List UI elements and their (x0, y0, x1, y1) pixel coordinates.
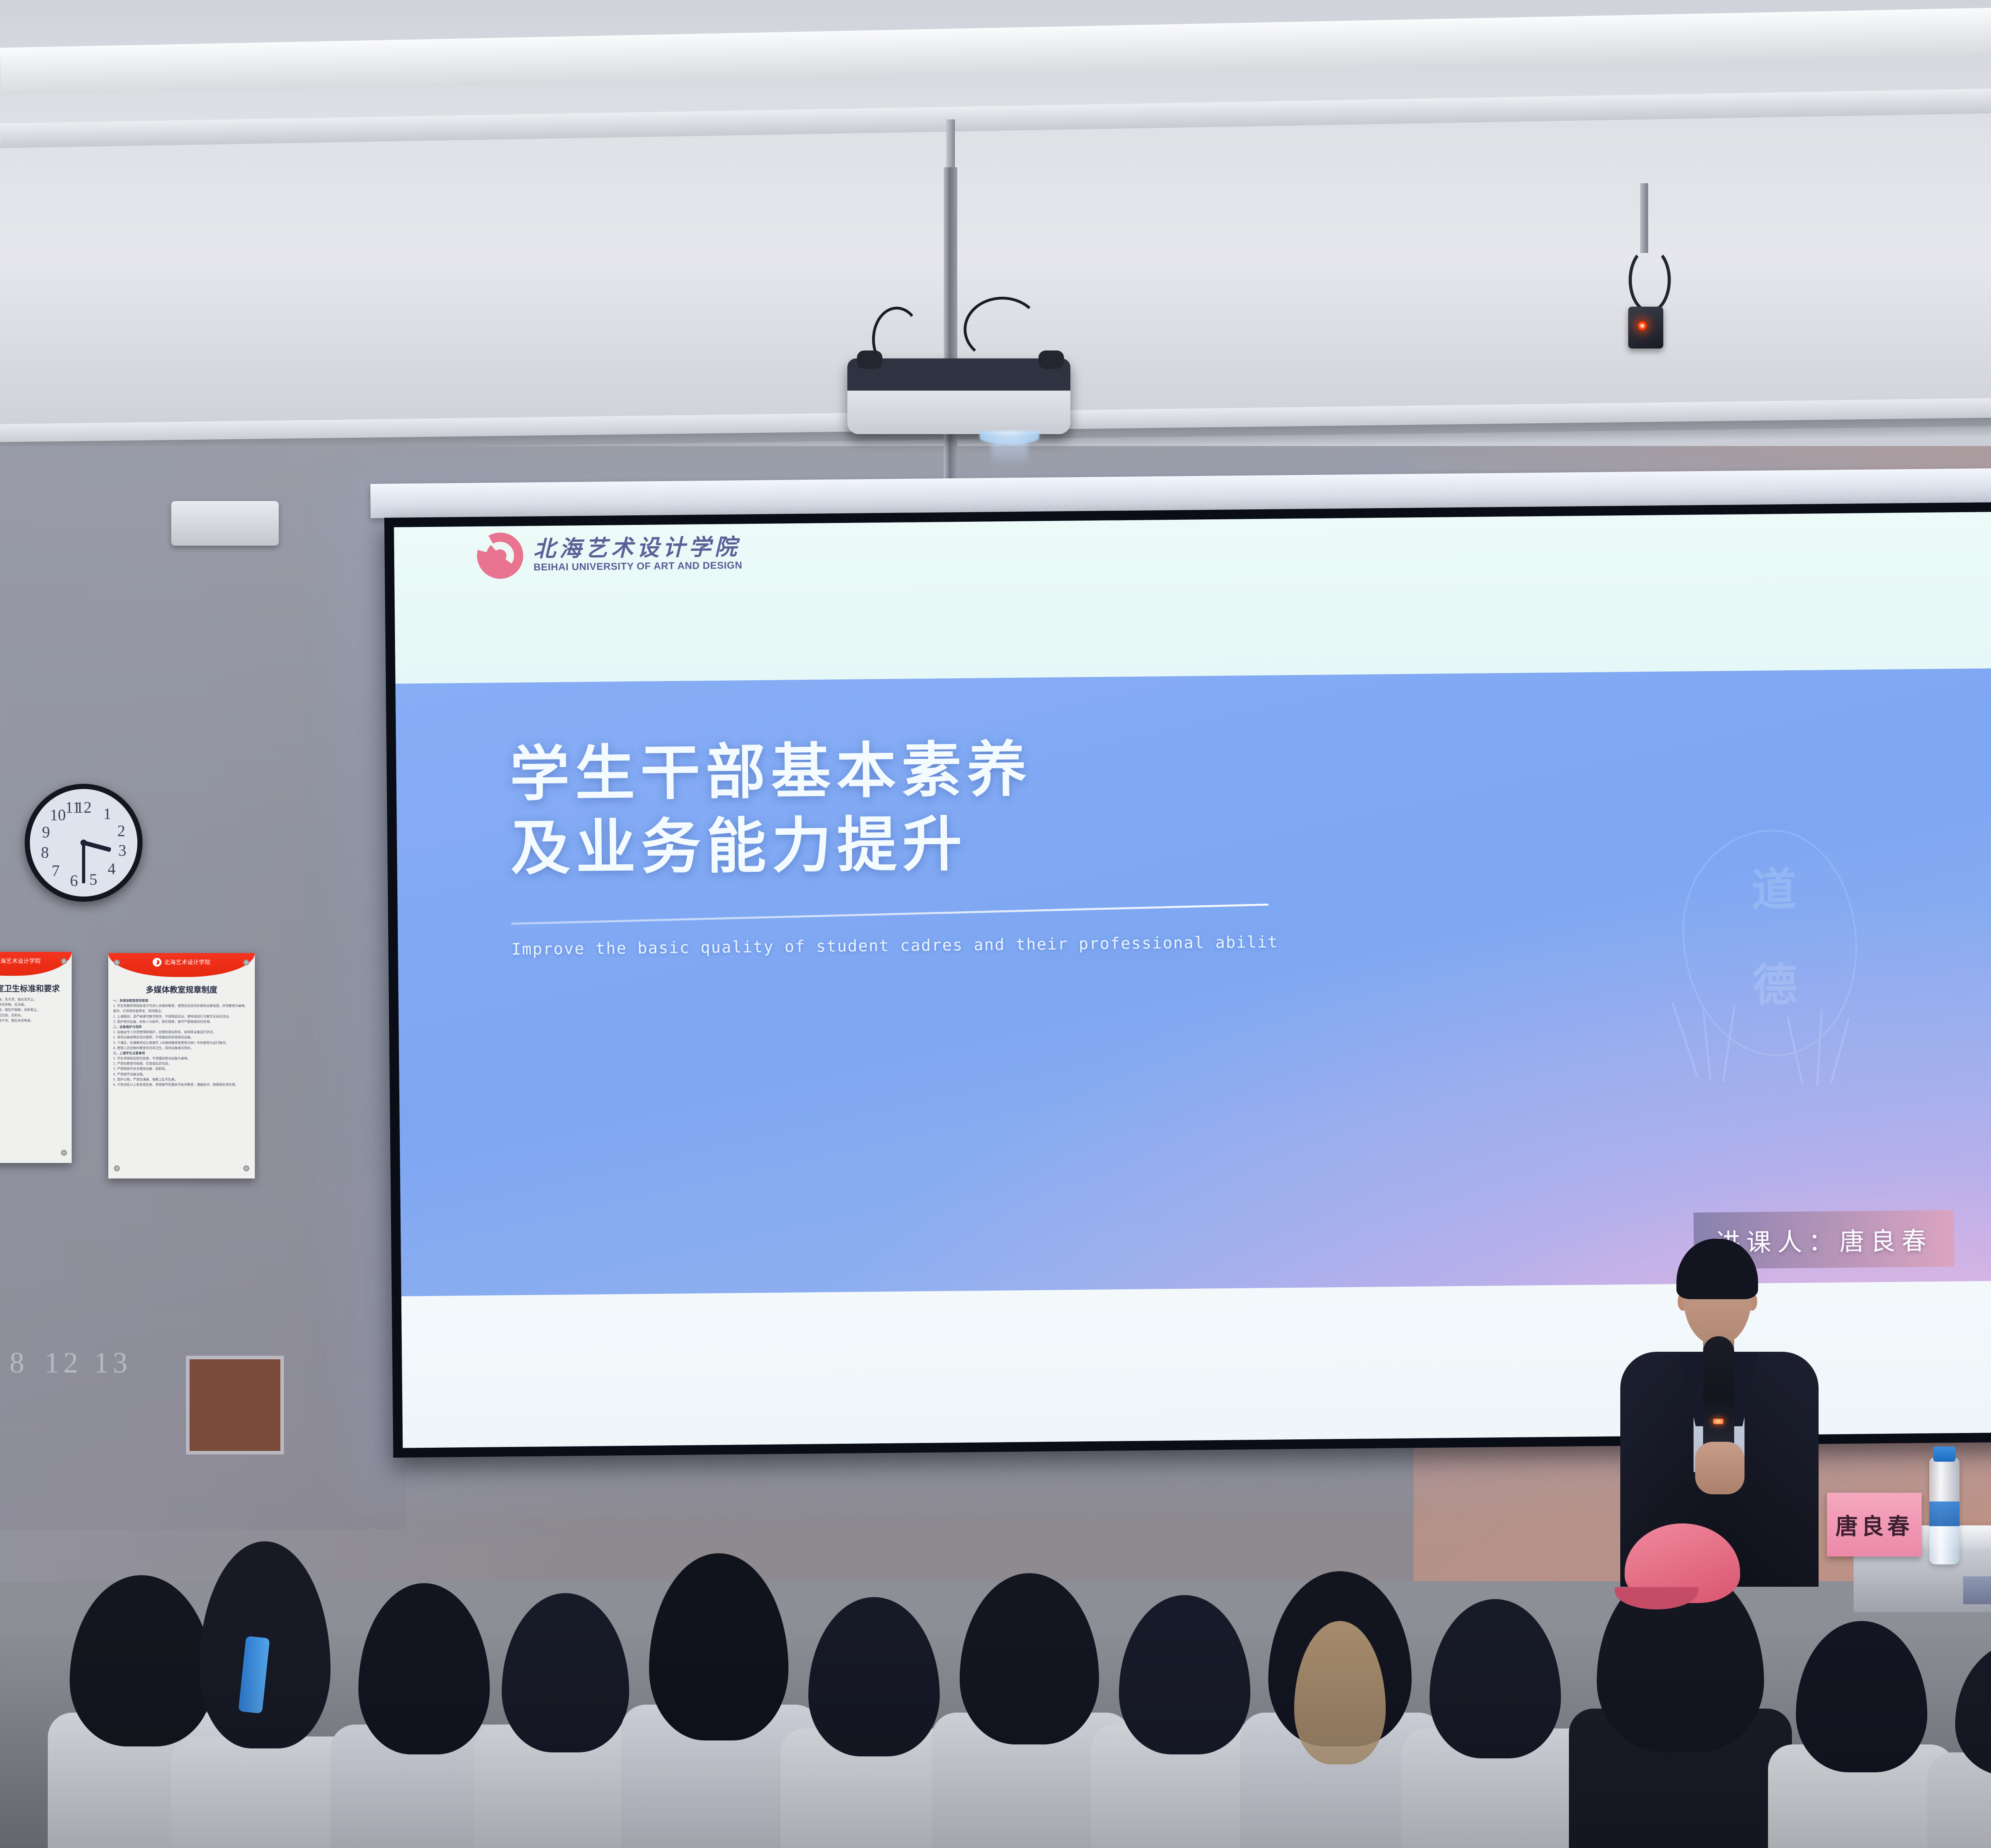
university-logo: 北海艺术设计学院 BEIHAI UNIVERSITY OF ART AND DE… (477, 530, 742, 579)
poster-line: 一、地面清洁：地面干净、明亮、无污渍，窗台无灰尘。 (0, 997, 67, 1002)
slide-title-block: 学生干部基本素养 及业务能力提升 Improve the basic quali… (509, 728, 1549, 959)
list-item (649, 1553, 788, 1740)
poster-line: 二、桌椅摆放：课桌整齐、抽屉无杂物、无涂画。 (0, 1002, 67, 1007)
name-placard-text: 唐良春 (1836, 1509, 1913, 1541)
sensor-pole (1640, 183, 1648, 253)
list-item (358, 1583, 490, 1754)
clock-numeral: 5 (89, 870, 97, 889)
projector-mount-knob (857, 350, 882, 369)
sensor-bracket (1629, 247, 1671, 313)
leaf-icon (1829, 1018, 1849, 1084)
list-item (70, 1575, 213, 1746)
watermark-char: 德 (1752, 949, 1797, 1014)
clock-numeral: 10 (50, 805, 66, 824)
wall-vent (171, 501, 279, 546)
chalk-mark: 13 (94, 1346, 131, 1380)
watermark-char: 道 (1751, 854, 1797, 918)
screw-icon (243, 1165, 249, 1171)
presenter-hand (1695, 1442, 1745, 1494)
poster-line: 五、设备维护：多媒体设备擦拭干净，用后关闭电源。 (0, 1018, 67, 1023)
list-item (1119, 1595, 1250, 1754)
clock-pivot (80, 840, 87, 846)
chalk-mark: 8 (10, 1346, 28, 1380)
poster-line: 1. 设备由专人负责管理和维护，定期检查投影机、音响等设备运行状况。 (113, 1030, 250, 1035)
poster-line: 4. 严禁损坏设备设施。 (113, 1072, 250, 1077)
calligraphy-watermark: 道 德 (1665, 829, 1875, 1110)
poster-section: 二、设备维护与保养 (113, 1024, 250, 1030)
projector-pole (944, 167, 957, 510)
slide-body-band: 道 德 学生干部基本素养 及业务能力提升 Improve the basic q… (395, 668, 1991, 1296)
poster-line: 5. 爱护公物，严禁在课桌、墙壁上乱写乱画。 (113, 1077, 250, 1082)
poster-logo: 北海艺术设计学院 (153, 958, 211, 967)
poster-line: 3. 严禁随意开启多媒体设备、投影机。 (113, 1066, 250, 1071)
wall-poster-hygiene: 北海艺术设计学院 多媒体教室卫生标准和要求 一、地面清洁：地面干净、明亮、无污渍… (0, 952, 72, 1163)
poster-banner-cn: 北海艺术设计学院 (164, 958, 211, 966)
chalk-mark: 12 (45, 1346, 82, 1380)
clock-numeral: 11 (65, 798, 81, 816)
logo-text-block: 北海艺术设计学院 BEIHAI UNIVERSITY OF ART AND DE… (533, 536, 742, 573)
poster-line: 4. 管理人员应做好教室的日常卫生，保持设备清洁完好。 (113, 1045, 250, 1051)
list-item (502, 1593, 629, 1752)
poster-line: 3. 爱护室内设备，如有人为损坏，照价赔偿，情节严重者按校纪处理。 (113, 1019, 250, 1024)
screw-icon (61, 1150, 67, 1156)
clock-numeral: 1 (103, 805, 111, 823)
poster-line: 四、讲台整洁：讲台无杂物、无垃圾、无积水。 (0, 1013, 67, 1018)
slide-title-line-2: 及业务能力提升 (510, 802, 1549, 886)
poster-section: 一、多媒体教室使用管理 (113, 998, 250, 1003)
projector-light-beam (992, 442, 1027, 466)
poster-line: 1. 学生须按指定座位就座，不得擅自移动设备与桌椅。 (113, 1056, 250, 1061)
poster-line: 2. 上课期间，须严格遵守教学秩序，不得随意走动、喧哗或进行与教学无关的活动。 (113, 1014, 250, 1019)
title-divider (511, 904, 1269, 925)
water-bottle-label (1929, 1501, 1960, 1526)
slide-subtitle: Improve the basic quality of student cad… (511, 930, 1549, 959)
front-desk-step (1963, 1576, 1991, 1604)
list-item (960, 1573, 1099, 1744)
poster-line: 3. 下课后，任课教师应认真填写《多媒体教室使用登记表》中的使用与运行情况。 (113, 1040, 250, 1045)
water-bottle-cap (1933, 1447, 1956, 1462)
leaf-icon (1671, 1002, 1698, 1078)
slide-header-band: 北海艺术设计学院 BEIHAI UNIVERSITY OF ART AND DE… (394, 512, 1991, 684)
swirl-icon (153, 958, 162, 967)
sensor-led-icon (1637, 321, 1647, 331)
screw-icon (114, 959, 120, 965)
wall-poster-rules: 北海艺术设计学院 多媒体教室规章制度 一、多媒体教室使用管理 1. 学生和教师须… (108, 953, 255, 1178)
poster-line: 1. 学生和教师须经批准方可进入多媒体教室，使用后应关闭多媒体设备电源，并将教室… (113, 1003, 250, 1014)
clock-numeral: 2 (117, 822, 125, 840)
poster-title: 多媒体教室规章制度 (111, 983, 252, 995)
projector-cable (964, 297, 1041, 362)
poster-banner: 北海艺术设计学院 (0, 952, 72, 976)
clock-numeral: 6 (70, 871, 78, 890)
poster-logo: 北海艺术设计学院 (0, 957, 41, 965)
slide-title-line-1: 学生干部基本素养 (509, 728, 1548, 812)
handheld-microphone-icon (1703, 1336, 1734, 1456)
clock-minute-hand (82, 843, 85, 883)
list-item (808, 1597, 940, 1756)
poster-section: 三、上课学生注意事项 (113, 1051, 250, 1056)
logo-name-cn: 北海艺术设计学院 (533, 536, 742, 560)
leaf-icon (1702, 1009, 1711, 1081)
presenter-hair (1676, 1239, 1758, 1299)
clock-hour-hand (83, 841, 111, 852)
screw-icon (61, 958, 67, 964)
clock-numeral: 9 (42, 823, 50, 842)
clock-numeral: 8 (41, 843, 49, 862)
screw-icon (114, 1165, 120, 1171)
poster-body: 一、多媒体教室使用管理 1. 学生和教师须经批准方可进入多媒体教室，使用后应关闭… (108, 998, 255, 1087)
poster-banner: 北海艺术设计学院 (108, 953, 255, 977)
lecture-hall-scene: 8 12 13 12 1 2 3 4 5 6 7 8 9 10 11 北海艺术设… (0, 0, 1991, 1848)
list-item (1430, 1599, 1561, 1758)
poster-line: 三、黑板清洁：黑板干净、明亮、擦后不留痕，无粉笔尘。 (0, 1007, 67, 1012)
wall-clock: 12 1 2 3 4 5 6 7 8 9 10 11 (25, 784, 143, 902)
list-item (1796, 1621, 1927, 1772)
clock-numeral: 7 (52, 861, 60, 880)
ceiling-projector (847, 358, 1070, 434)
microphone-led-icon (1713, 1419, 1723, 1424)
screw-icon (243, 959, 249, 965)
poster-line: 2. 严禁在教室内吸烟、饮食或乱扔垃圾。 (113, 1061, 250, 1066)
logo-name-en: BEIHAI UNIVERSITY OF ART AND DESIGN (534, 560, 743, 573)
poster-line: 2. 发现设备故障应及时报修，不得擅自拆卸或调试设备。 (113, 1035, 250, 1040)
poster-banner-cn: 北海艺术设计学院 (0, 957, 41, 965)
clock-numeral: 4 (108, 859, 115, 878)
wall-patch (190, 1359, 280, 1451)
name-placard: 唐良春 (1827, 1493, 1922, 1556)
poster-line: 6. 凡有违反以上各条规定者，将视情节轻重给予批评教育、通报批评、赔偿损失等处理… (113, 1082, 250, 1087)
swirl-logo-icon (477, 532, 523, 579)
poster-body: 一、地面清洁：地面干净、明亮、无污渍，窗台无灰尘。 二、桌椅摆放：课桌整齐、抽屉… (0, 997, 72, 1023)
clock-numeral: 3 (118, 841, 126, 859)
projector-mount-knob (1039, 350, 1064, 369)
poster-title: 多媒体教室卫生标准和要求 (0, 982, 69, 994)
